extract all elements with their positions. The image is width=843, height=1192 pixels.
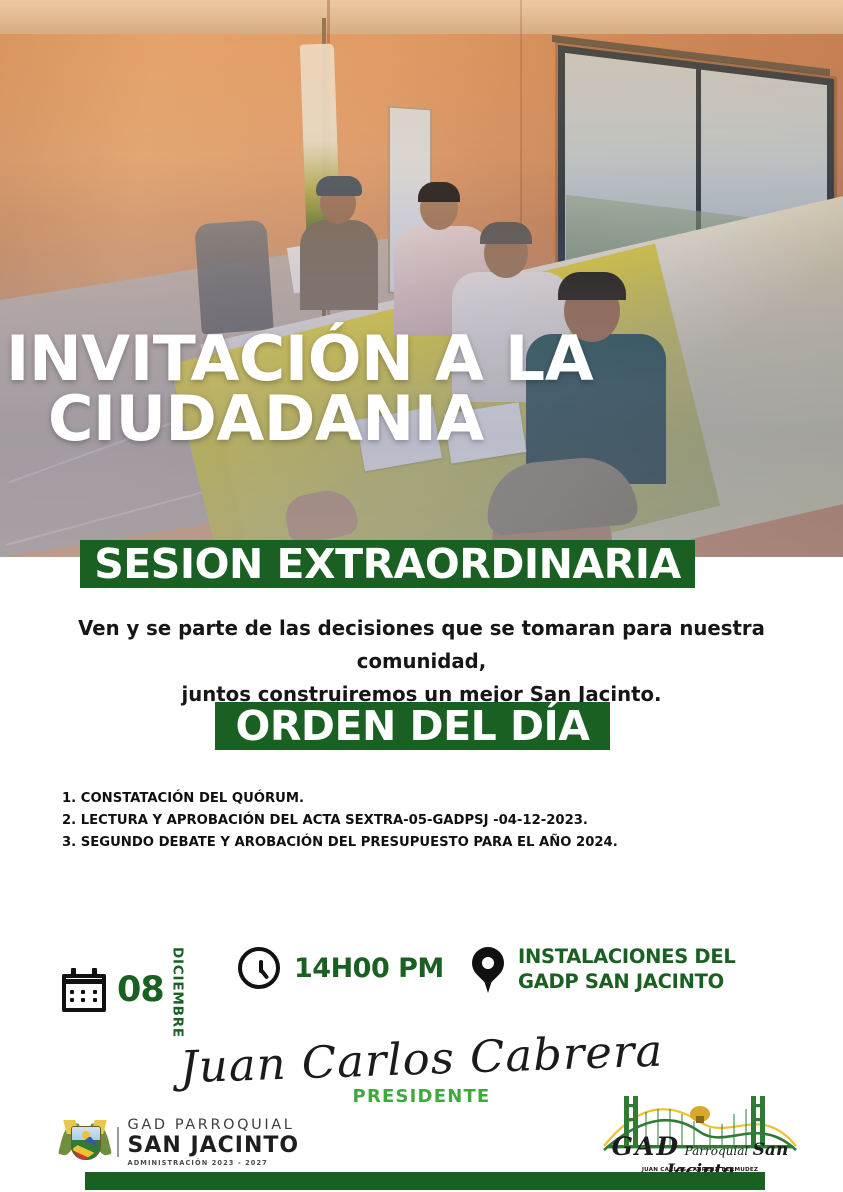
poster: INVITACIÓN A LA CIUDADANIA SESION EXTRAO… <box>0 0 843 1192</box>
logo-divider <box>117 1127 119 1157</box>
event-time: 14H00 PM <box>238 947 444 989</box>
gad-text: GAD <box>612 1132 680 1161</box>
map-pin-icon <box>470 947 506 995</box>
logo-line-2: SAN JACINTO <box>128 1135 300 1157</box>
logo-line-3: ADMINISTRACIÓN 2023 - 2027 <box>128 1160 300 1167</box>
location-line-2: GADP SAN JACINTO <box>518 970 724 993</box>
event-location: INSTALACIONES DEL GADP SAN JACINTO <box>470 945 735 995</box>
agenda-item: 3. SEGUNDO DEBATE Y AROBACIÓN DEL PRESUP… <box>62 831 741 853</box>
calendar-icon <box>62 968 106 1012</box>
agenda-item: 2. LECTURA Y APROBACIÓN DEL ACTA SEXTRA-… <box>62 809 741 831</box>
coat-of-arms-icon <box>62 1120 108 1164</box>
event-time-text: 14H00 PM <box>294 953 444 984</box>
agenda-list: 1. CONSTATACIÓN DEL QUÓRUM. 2. LECTURA Y… <box>62 787 741 853</box>
logo-text: GAD PARROQUIAL SAN JACINTO ADMINISTRACIÓ… <box>128 1118 300 1166</box>
agenda-banner: ORDEN DEL DÍA <box>215 702 610 750</box>
event-day: 08 <box>117 970 164 1010</box>
agenda-item: 1. CONSTATACIÓN DEL QUÓRUM. <box>62 787 741 809</box>
logo-line-1: GAD PARROQUIAL <box>128 1118 300 1133</box>
clock-icon <box>238 947 280 989</box>
photo-color-overlay <box>0 0 843 557</box>
bottom-green-bar <box>85 1172 765 1190</box>
gad-bridge-logo: GAD Parroquial San Jacinto JUAN CARLOS C… <box>600 1092 800 1184</box>
gad-parroquial-logo: GAD PARROQUIAL SAN JACINTO ADMINISTRACIÓ… <box>62 1118 299 1166</box>
gad-parroquial-text: Parroquial <box>685 1144 749 1158</box>
event-date: 08 DICIEMBRE <box>62 943 186 1038</box>
session-banner: SESION EXTRAORDINARIA <box>80 540 695 588</box>
event-location-text: INSTALACIONES DEL GADP SAN JACINTO <box>518 945 735 995</box>
event-month: DICIEMBRE <box>170 947 186 1038</box>
subtitle: Ven y se parte de las decisiones que se … <box>17 612 826 712</box>
meeting-room-photo <box>0 0 843 557</box>
location-line-1: INSTALACIONES DEL <box>518 945 735 968</box>
subtitle-line-1: Ven y se parte de las decisiones que se … <box>17 612 826 678</box>
